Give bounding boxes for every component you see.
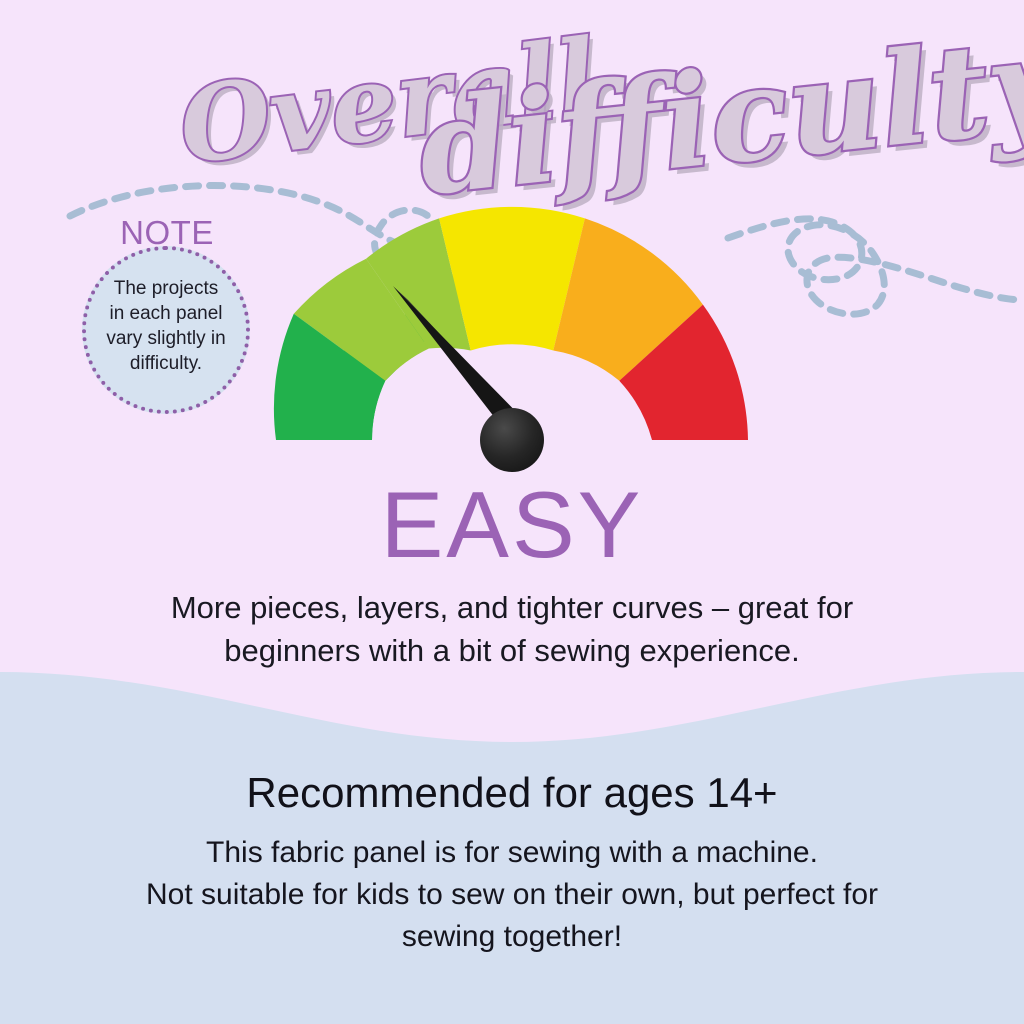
note-text-line-3: vary slightly in (90, 326, 242, 351)
note-text-line-4: difficulty. (90, 351, 242, 376)
note-text-line-1: The projects (90, 276, 242, 301)
age-description-line-2: Not suitable for kids to sew on their ow… (70, 874, 954, 916)
age-description-line-3: sewing together! (70, 916, 954, 958)
age-description: This fabric panel is for sewing with a m… (70, 832, 954, 958)
rating-description-line-1: More pieces, layers, and tighter curves … (96, 586, 928, 629)
difficulty-infographic: Overall Overall difficulty difficulty NO… (0, 0, 1024, 1024)
rating-description: More pieces, layers, and tighter curves … (96, 586, 928, 672)
age-heading: Recommended for ages 14+ (0, 768, 1024, 818)
note-text-line-2: in each panel (90, 301, 242, 326)
note-text: The projects in each panel vary slightly… (90, 276, 242, 376)
note-callout: NOTE The projects in each panel vary sli… (80, 214, 270, 414)
rating-label: EASY (0, 478, 1024, 572)
note-label: NOTE (80, 214, 254, 252)
age-description-line-1: This fabric panel is for sewing with a m… (70, 832, 954, 874)
rating-description-line-2: beginners with a bit of sewing experienc… (96, 629, 928, 672)
